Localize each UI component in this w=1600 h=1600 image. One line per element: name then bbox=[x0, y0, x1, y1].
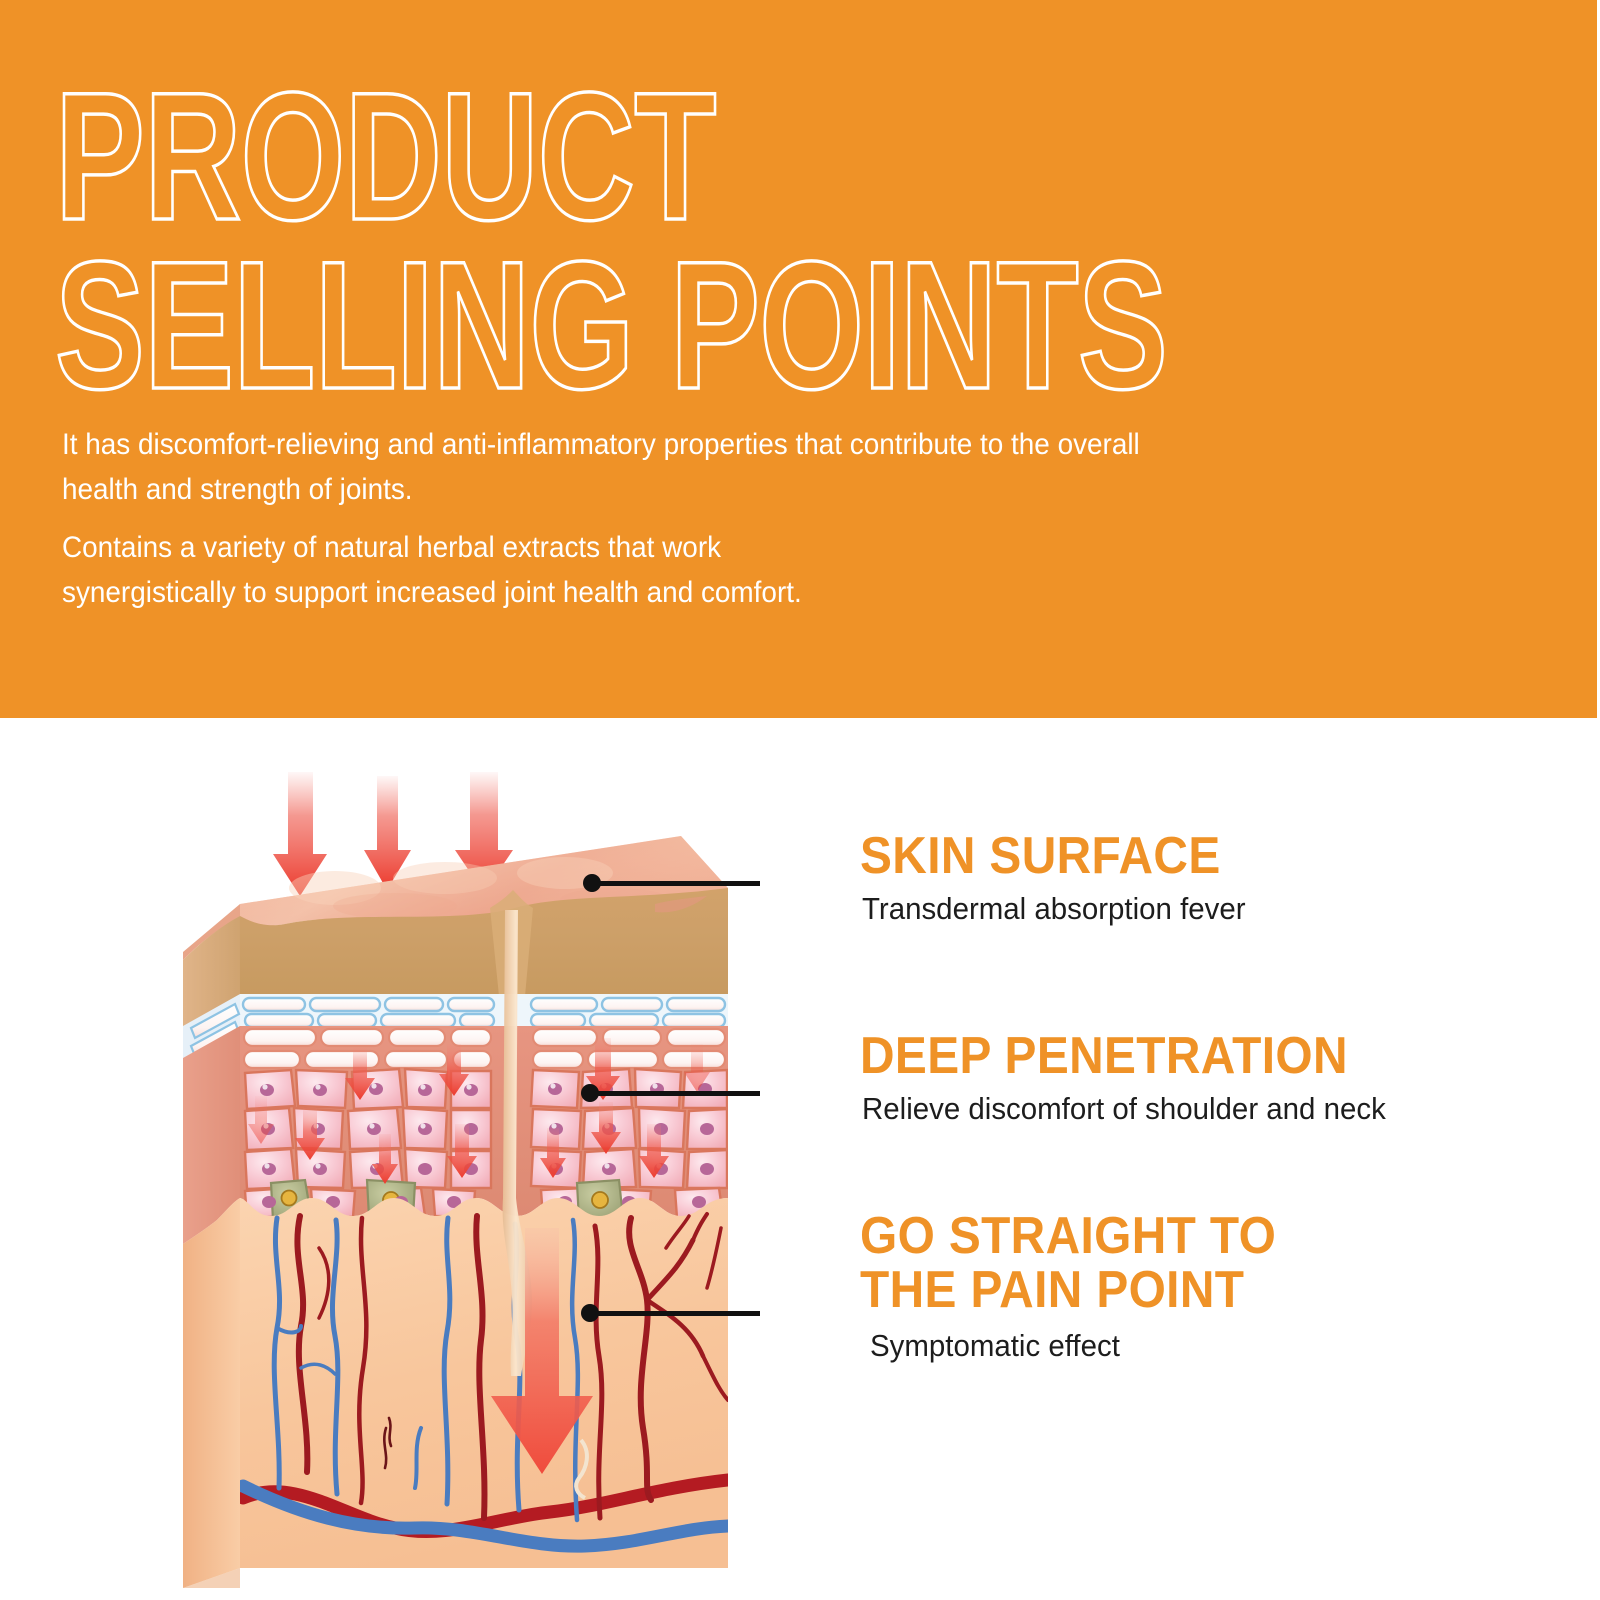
description-line-2: health and strength of joints. bbox=[62, 469, 1225, 510]
description-line-3: Contains a variety of natural herbal ext… bbox=[62, 527, 1225, 568]
skin-block bbox=[183, 836, 728, 1588]
callout-pain-point: GO STRAIGHT TO THE PAIN POINT Symptomati… bbox=[860, 1210, 1312, 1364]
leader-line-skin-surface bbox=[592, 881, 760, 886]
title-line-1: PRODUCT bbox=[55, 72, 1017, 241]
leader-line-deep-penetration bbox=[590, 1091, 760, 1096]
callout-title-skin-surface: SKIN SURFACE bbox=[860, 830, 1233, 884]
skin-cross-section-diagram bbox=[95, 728, 775, 1588]
page-title: PRODUCT SELLING POINTS bbox=[55, 72, 1355, 411]
dermis-left-face bbox=[183, 1198, 240, 1588]
description-line-1: It has discomfort-relieving and anti-inf… bbox=[62, 424, 1225, 465]
callout-subtitle-pain-point: Symptomatic effect bbox=[870, 1327, 1290, 1364]
hero-banner: PRODUCT SELLING POINTS It has discomfort… bbox=[0, 0, 1597, 718]
callout-subtitle-skin-surface: Transdermal absorption fever bbox=[862, 890, 1246, 927]
infographic-page: PRODUCT SELLING POINTS It has discomfort… bbox=[0, 0, 1600, 1600]
skin-diagram-svg bbox=[95, 728, 775, 1588]
callout-title-deep-penetration: DEEP PENETRATION bbox=[860, 1030, 1369, 1084]
callout-title-pain-point-line-1: GO STRAIGHT TO bbox=[860, 1210, 1276, 1264]
callout-skin-surface: SKIN SURFACE Transdermal absorption feve… bbox=[860, 830, 1266, 927]
diagram-section: SKIN SURFACE Transdermal absorption feve… bbox=[0, 718, 1600, 1600]
leader-line-pain-point bbox=[590, 1311, 760, 1316]
hero-description: It has discomfort-relieving and anti-inf… bbox=[62, 424, 1225, 618]
callout-deep-penetration: DEEP PENETRATION Relieve discomfort of s… bbox=[860, 1030, 1413, 1127]
callout-subtitle-deep-penetration: Relieve discomfort of shoulder and neck bbox=[862, 1090, 1386, 1127]
callout-title-pain-point-line-2: THE PAIN POINT bbox=[860, 1264, 1276, 1318]
description-line-4: synergistically to support increased joi… bbox=[62, 572, 1225, 613]
callout-list: SKIN SURFACE Transdermal absorption feve… bbox=[860, 718, 1580, 1598]
title-line-2: SELLING POINTS bbox=[55, 241, 1017, 410]
